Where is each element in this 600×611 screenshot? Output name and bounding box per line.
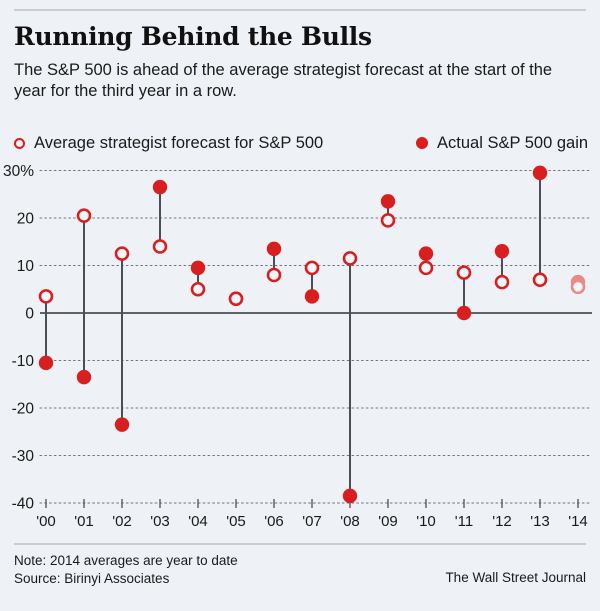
actual-data-point [381,194,395,208]
x-axis-tick-label: '06 [264,513,284,530]
publisher-credit: The Wall Street Journal [445,570,586,585]
legend-label-forecast: Average strategist forecast for S&P 500 [34,134,323,153]
actual-data-point [153,180,167,194]
legend-item-actual: Actual S&P 500 gain [416,132,588,154]
actual-data-point [343,489,357,503]
x-axis-tick-label: '13 [530,513,550,530]
forecast-data-point [572,281,584,293]
y-axis-tick-label: 10 [17,258,35,275]
x-axis-tick-label: '03 [150,513,170,530]
forecast-data-point [458,267,470,279]
forecast-data-point [420,262,432,274]
bottom-edge [0,605,600,611]
x-axis-tick-label: '05 [226,513,246,530]
actual-data-point [115,417,129,431]
forecast-data-point [192,283,204,295]
page-title: Running Behind the Bulls [14,22,584,52]
actual-data-point [495,244,509,258]
bottom-divider [14,543,586,545]
x-axis-tick-label: '01 [74,513,94,530]
x-axis-tick-label: '09 [378,513,398,530]
x-axis-tick-label: '14 [568,513,588,530]
x-axis-tick-label: '11 [455,513,473,530]
forecast-data-point [154,241,166,253]
forecast-data-point [534,274,546,286]
actual-data-point [267,242,281,256]
forecast-data-point [40,290,52,302]
actual-data-point [419,246,433,260]
y-axis-tick-label: 0 [25,306,34,323]
x-axis-tick-label: '12 [492,513,512,530]
forecast-data-point [78,210,90,222]
actual-data-point [77,370,91,384]
actual-data-point [533,166,547,180]
y-axis-tick-label: -20 [12,401,35,418]
x-axis-tick-label: '02 [112,513,132,530]
chart-note: Note: 2014 averages are year to date Sou… [14,552,238,588]
actual-data-point [305,289,319,303]
forecast-data-point [382,214,394,226]
x-axis-tick-label: '08 [340,513,360,530]
chart-legend: Average strategist forecast for S&P 500 … [14,132,589,154]
y-axis-tick-label: -10 [12,353,35,370]
x-axis-tick-label: '07 [302,513,322,530]
top-divider [14,9,586,11]
actual-data-point [191,261,205,275]
open-circle-icon [14,138,25,149]
actual-data-point [457,306,471,320]
y-axis-tick-label: -30 [12,448,35,465]
source-line: Source: Birinyi Associates [14,570,238,588]
y-axis-tick-label: -40 [12,496,35,513]
page-subtitle: The S&P 500 is ahead of the average stra… [14,60,580,102]
filled-circle-icon [416,137,428,149]
forecast-data-point [496,276,508,288]
forecast-data-point [268,269,280,281]
x-axis-tick-label: '00 [36,513,56,530]
chart-page: Running Behind the Bulls The S&P 500 is … [0,0,600,611]
legend-label-actual: Actual S&P 500 gain [437,134,588,153]
x-axis-tick-label: '10 [416,513,436,530]
actual-data-point [39,356,53,370]
forecast-data-point [344,252,356,264]
y-axis-tick-label: 30% [3,163,34,180]
forecast-data-point [116,248,128,260]
scatter-chart: 30%20100-10-20-30-40'00'01'02'03'04'05'0… [0,160,600,535]
y-axis-tick-label: 20 [17,211,35,228]
chart-plot-area: 30%20100-10-20-30-40'00'01'02'03'04'05'0… [0,160,600,535]
note-line: Note: 2014 averages are year to date [14,552,238,570]
legend-item-forecast: Average strategist forecast for S&P 500 [14,132,323,154]
x-axis-tick-label: '04 [188,513,208,530]
forecast-data-point [306,262,318,274]
forecast-data-point [230,293,242,305]
